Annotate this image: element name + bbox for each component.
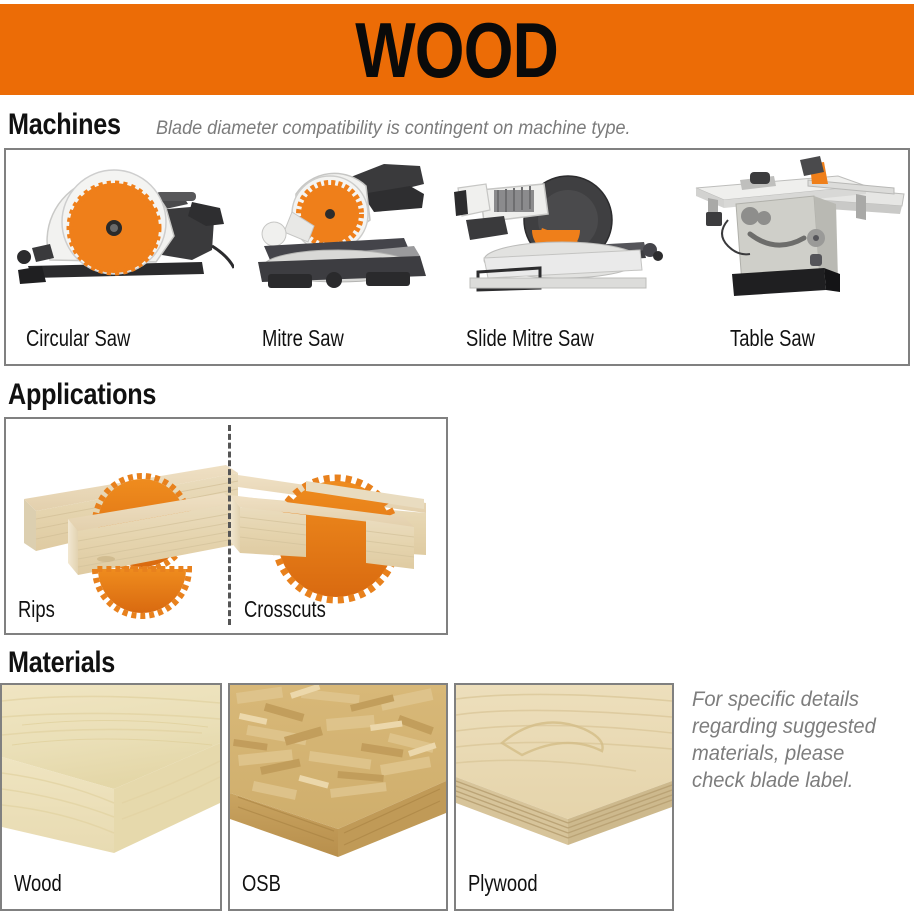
material-panel-wood: Wood — [0, 683, 222, 911]
machines-panel: Circular Saw — [4, 148, 910, 366]
machine-label-circular-saw: Circular Saw — [26, 327, 130, 350]
circular-saw-icon — [6, 150, 234, 305]
materials-note-line-1: For specific details — [692, 686, 876, 713]
machine-item-slide-mitre-saw: Slide Mitre Saw — [444, 150, 688, 364]
machine-item-mitre-saw: Mitre Saw — [234, 150, 444, 364]
material-label-wood: Wood — [14, 872, 62, 895]
applications-illustration — [6, 419, 446, 633]
mitre-saw-icon — [234, 150, 444, 305]
machines-section-heading: Machines Blade diameter compatibility is… — [8, 110, 656, 140]
materials-note-line-3: materials, please — [692, 740, 876, 767]
machine-label-mitre-saw: Mitre Saw — [262, 327, 344, 350]
machine-item-circular-saw: Circular Saw — [6, 150, 234, 364]
material-panel-osb: OSB — [228, 683, 448, 911]
machines-subtitle: Blade diameter compatibility is continge… — [156, 119, 631, 139]
applications-title: Applications — [8, 380, 156, 410]
machines-title: Machines — [8, 110, 121, 140]
materials-title: Materials — [8, 648, 115, 678]
machine-label-slide-mitre-saw: Slide Mitre Saw — [466, 327, 594, 350]
slide-mitre-saw-icon — [444, 150, 688, 305]
materials-note-line-4: check blade label. — [692, 767, 876, 794]
machine-label-table-saw: Table Saw — [730, 327, 815, 350]
page-title: WOOD — [356, 11, 559, 89]
material-panel-plywood: Plywood — [454, 683, 674, 911]
material-label-plywood: Plywood — [468, 872, 538, 895]
table-saw-icon — [688, 150, 908, 305]
materials-note: For specific details regarding suggested… — [692, 686, 876, 794]
materials-note-line-2: regarding suggested — [692, 713, 876, 740]
application-label-crosscuts: Crosscuts — [244, 598, 326, 621]
rip-crosscut-divider — [228, 425, 231, 625]
wood-blade-spec-sheet: WOOD Machines Blade diameter compatibili… — [0, 0, 914, 913]
materials-section-heading: Materials — [8, 648, 135, 678]
machine-item-table-saw: Table Saw — [688, 150, 908, 364]
header-band: WOOD — [0, 4, 914, 95]
material-label-osb: OSB — [242, 872, 281, 895]
applications-panel: Rips Crosscuts — [4, 417, 448, 635]
application-label-rips: Rips — [18, 598, 55, 621]
applications-section-heading: Applications — [8, 380, 184, 410]
